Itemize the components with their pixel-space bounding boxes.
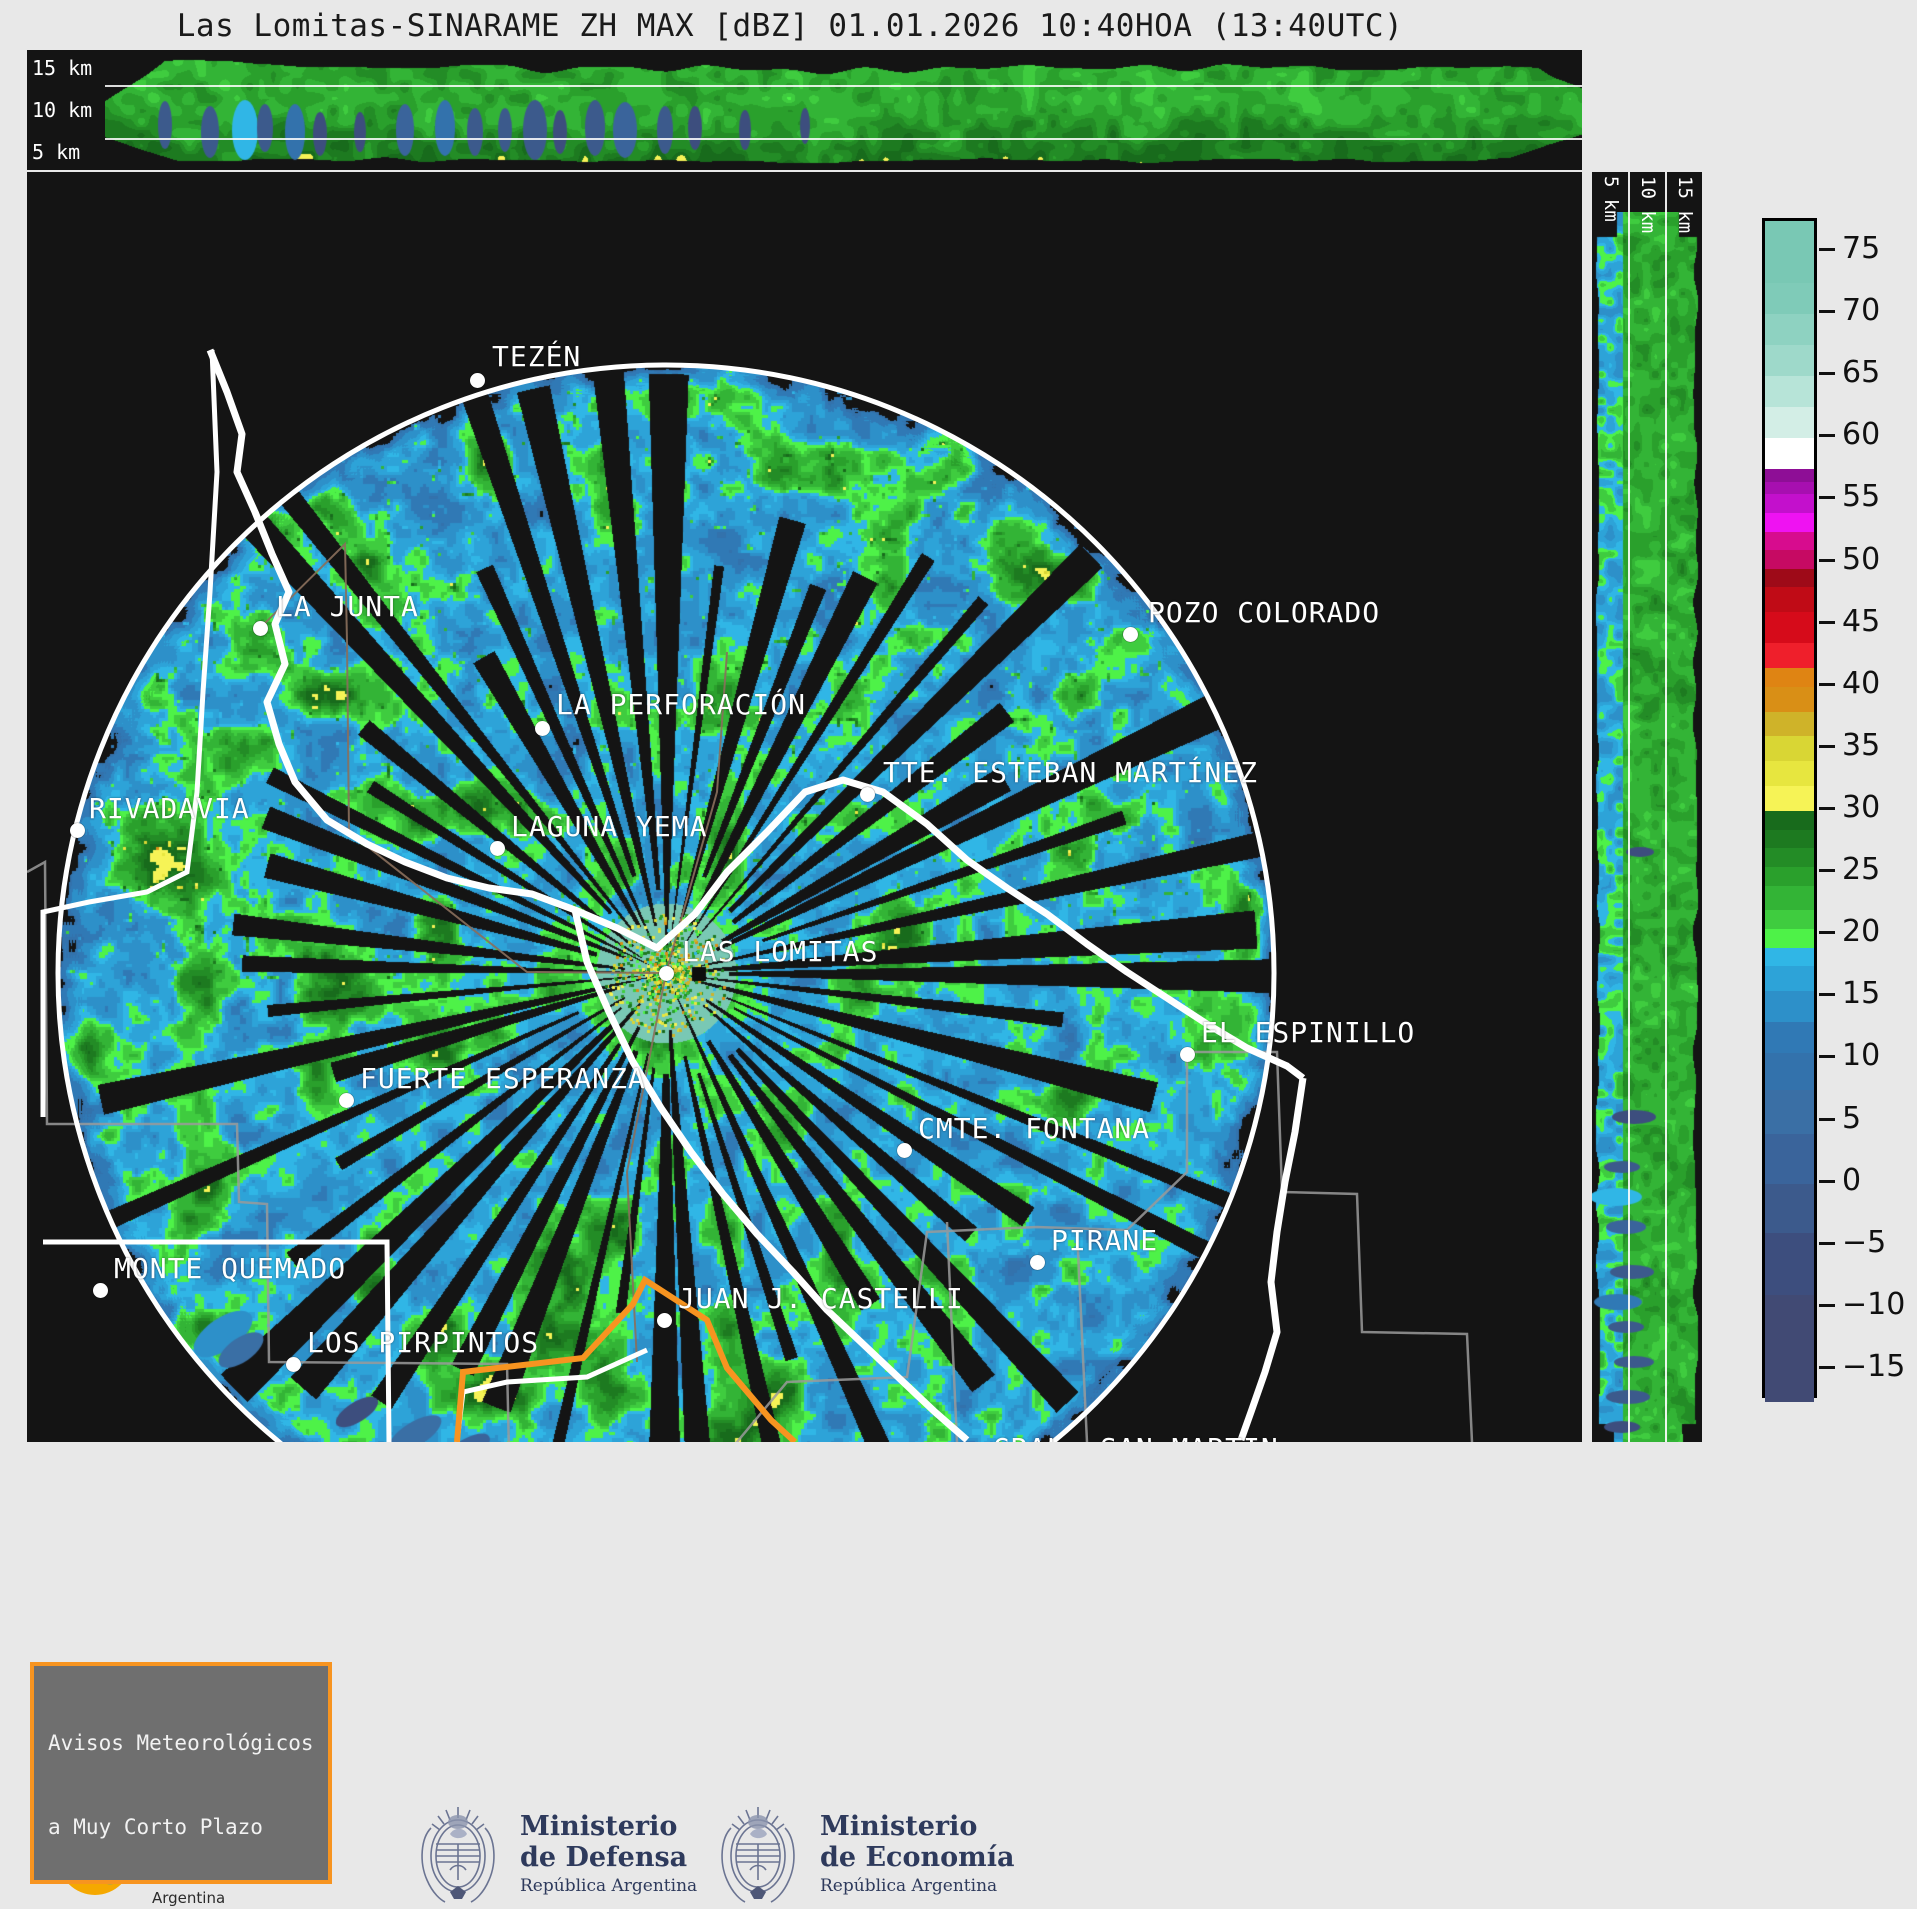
colorbar-segment xyxy=(1765,830,1814,849)
colorbar-segment xyxy=(1765,966,1814,991)
defensa-logo-subtitle: República Argentina xyxy=(520,1876,697,1896)
city-dot-icon xyxy=(659,966,674,981)
colorbar-segment xyxy=(1765,550,1814,569)
colorbar-tick-label: 35 xyxy=(1842,731,1880,761)
colorbar-segment xyxy=(1765,587,1814,612)
colorbar-tick xyxy=(1819,993,1835,996)
colorbar-segment xyxy=(1765,482,1814,495)
colorbar-segment xyxy=(1765,494,1814,513)
colorbar-tick-label: 65 xyxy=(1842,358,1880,388)
colorbar-tick xyxy=(1819,807,1835,810)
city-label: FUERTE ESPERANZA xyxy=(360,1062,646,1095)
colorbar-segment xyxy=(1765,221,1814,253)
city-dot-icon xyxy=(657,1313,672,1328)
colorbar-tick-label: 50 xyxy=(1842,545,1880,575)
colorbar-tick-label: −10 xyxy=(1842,1290,1905,1320)
colorbar-tick-label: 60 xyxy=(1842,420,1880,450)
status-badge-line1: Avisos Meteorológicos xyxy=(48,1730,314,1758)
top-gridline-10km xyxy=(105,85,1582,87)
colorbar-segment xyxy=(1765,687,1814,712)
economia-logo-title: Ministerio de Economía xyxy=(820,1812,1014,1872)
top-axis-label-15km: 15 km xyxy=(32,56,92,80)
city-dot-icon xyxy=(93,1283,108,1298)
colorbar-segment xyxy=(1765,1090,1814,1134)
colorbar-tick-label: 15 xyxy=(1842,979,1880,1009)
colorbar-segment xyxy=(1765,668,1814,687)
colorbar-segment xyxy=(1765,1022,1814,1054)
colorbar-segment xyxy=(1765,345,1814,377)
top-cross-section-echo xyxy=(105,50,1582,170)
colorbar-segment xyxy=(1765,761,1814,786)
colorbar-tick-label: 30 xyxy=(1842,793,1880,823)
colorbar-tick xyxy=(1819,1180,1835,1183)
colorbar-segment xyxy=(1765,252,1814,284)
colorbar-tick xyxy=(1819,248,1835,251)
colorbar-segment xyxy=(1765,643,1814,668)
colorbar-tick-label: 45 xyxy=(1842,607,1880,637)
colorbar-segment xyxy=(1765,314,1814,346)
colorbar-tick xyxy=(1819,559,1835,562)
colorbar-tick xyxy=(1819,1366,1835,1369)
right-gridline-b xyxy=(1665,172,1667,1442)
city-dot-icon xyxy=(470,373,485,388)
right-axis-label-10km: 10 km xyxy=(1637,176,1659,233)
city-label: EL ESPINILLO xyxy=(1201,1016,1415,1049)
colorbar-tick xyxy=(1819,931,1835,934)
colorbar-tick-label: 75 xyxy=(1842,234,1880,264)
colorbar-segment xyxy=(1765,1233,1814,1296)
city-label: PIRANE xyxy=(1051,1224,1158,1257)
colorbar-tick-label: 20 xyxy=(1842,917,1880,947)
colorbar-tick-label: 55 xyxy=(1842,482,1880,512)
colorbar-tick xyxy=(1819,1304,1835,1307)
right-axis-label-15km: 15 km xyxy=(1674,176,1696,233)
colorbar-tick-label: 70 xyxy=(1842,296,1880,326)
colorbar-tick xyxy=(1819,621,1835,624)
status-badge-line2: a Muy Corto Plazo xyxy=(48,1814,314,1842)
colorbar-segment xyxy=(1765,929,1814,948)
colorbar-tick xyxy=(1819,683,1835,686)
colorbar-tick xyxy=(1819,310,1835,313)
colorbar-segment xyxy=(1765,867,1814,886)
city-dot-icon xyxy=(1180,1047,1195,1062)
colorbar-segment xyxy=(1765,376,1814,408)
colorbar-tick xyxy=(1819,745,1835,748)
colorbar-segment xyxy=(1765,848,1814,867)
city-label: JUAN J. CASTELLI xyxy=(678,1282,964,1315)
top-gridline-5km xyxy=(105,138,1582,140)
city-dot-icon xyxy=(860,787,875,802)
colorbar-tick xyxy=(1819,1242,1835,1245)
colorbar-tick xyxy=(1819,1118,1835,1121)
argentina-coat-of-arms-icon xyxy=(410,1804,506,1904)
city-label: GRAL. SAN MARTIN xyxy=(993,1432,1279,1442)
smn-logo-subtitle: Argentina xyxy=(152,1889,329,1907)
colorbar-segment xyxy=(1765,712,1814,737)
colorbar-segment xyxy=(1765,1053,1814,1091)
status-badge[interactable]: Avisos Meteorológicos a Muy Corto Plazo xyxy=(30,1662,332,1884)
colorbar-tick-label: 25 xyxy=(1842,855,1880,885)
colorbar-segment xyxy=(1765,438,1814,470)
colorbar-segment xyxy=(1765,469,1814,482)
river-pilcomayo xyxy=(210,350,1303,1440)
colorbar-tick xyxy=(1819,496,1835,499)
city-dot-icon xyxy=(253,621,268,636)
colorbar-segment xyxy=(1765,1184,1814,1234)
city-label: MONTE QUEMADO xyxy=(114,1252,346,1285)
right-cross-section-panel: 5 km 10 km 15 km xyxy=(1592,172,1702,1442)
right-cross-section-echo xyxy=(1592,212,1702,1442)
economia-logo-subtitle: República Argentina xyxy=(820,1876,1014,1896)
city-label: LAS LOMITAS xyxy=(682,935,878,968)
colorbar-segment xyxy=(1765,910,1814,929)
city-dot-icon xyxy=(1123,627,1138,642)
city-label: TTE. ESTEBAN MARTÍNEZ xyxy=(883,756,1258,789)
argentina-coat-of-arms-icon-2 xyxy=(710,1804,806,1904)
city-label: TEZÉN xyxy=(492,340,581,373)
colorbar-segment xyxy=(1765,811,1814,830)
city-label: LA JUNTA xyxy=(276,590,419,623)
colorbar-tick xyxy=(1819,372,1835,375)
colorbar-segment xyxy=(1765,1295,1814,1401)
colorbar-tick-label: 5 xyxy=(1842,1104,1861,1134)
city-label: RIVADAVIA xyxy=(89,792,250,825)
page-title: Las Lomitas-SINARAME ZH MAX [dBZ] 01.01.… xyxy=(0,8,1580,44)
roads xyxy=(260,544,727,1362)
top-axis-label-10km: 10 km xyxy=(32,98,92,122)
city-dot-icon xyxy=(339,1093,354,1108)
colorbar-gradient xyxy=(1762,218,1817,1398)
colorbar-tick-label: −5 xyxy=(1842,1228,1886,1258)
city-label: LAGUNA YEMA xyxy=(511,810,707,843)
top-axis-label-5km: 5 km xyxy=(32,140,80,164)
logo-ministerio-de-defensa: Ministerio de Defensa República Argentin… xyxy=(410,1804,697,1904)
top-cross-section-panel: 15 km 10 km 5 km xyxy=(27,50,1582,170)
colorbar-segment xyxy=(1765,1134,1814,1184)
right-axis-label-5km: 5 km xyxy=(1600,176,1622,222)
city-label: POZO COLORADO xyxy=(1148,596,1380,629)
colorbar-segment xyxy=(1765,948,1814,967)
colorbar-tick-label: −15 xyxy=(1842,1352,1905,1382)
colorbar-segment xyxy=(1765,886,1814,911)
colorbar-tick xyxy=(1819,869,1835,872)
colorbar-segment xyxy=(1765,532,1814,551)
colorbar-tick-label: 10 xyxy=(1842,1041,1880,1071)
right-gridline-a xyxy=(1628,172,1630,1442)
colorbar-tick-label: 40 xyxy=(1842,669,1880,699)
colorbar-segment xyxy=(1765,283,1814,315)
colorbar-segment xyxy=(1765,612,1814,644)
city-dot-icon xyxy=(490,841,505,856)
colorbar-segment xyxy=(1765,736,1814,761)
defensa-logo-title: Ministerio de Defensa xyxy=(520,1812,697,1872)
city-label: CMTE. FONTANA xyxy=(918,1112,1150,1145)
colorbar-segment xyxy=(1765,513,1814,532)
city-label: LOS PIRPINTOS xyxy=(307,1326,539,1359)
colorbar: 757065605550454035302520151050−5−10−15 xyxy=(1762,218,1912,1398)
city-label: LA PERFORACIÓN xyxy=(556,688,806,721)
colorbar-segment xyxy=(1765,991,1814,1023)
logo-ministerio-de-economia: Ministerio de Economía República Argenti… xyxy=(710,1804,1014,1904)
city-dot-icon xyxy=(897,1143,912,1158)
colorbar-segment xyxy=(1765,786,1814,811)
colorbar-tick xyxy=(1819,1055,1835,1058)
colorbar-tick xyxy=(1819,434,1835,437)
colorbar-segment xyxy=(1765,569,1814,588)
city-dot-icon xyxy=(1030,1255,1045,1270)
city-dot-icon xyxy=(286,1357,301,1372)
city-dot-icon xyxy=(70,823,85,838)
radar-plan-view-panel[interactable]: TEZÉNLA JUNTAPOZO COLORADOLA PERFORACIÓN… xyxy=(27,172,1582,1442)
colorbar-tick-label: 0 xyxy=(1842,1166,1861,1196)
city-dot-icon xyxy=(535,721,550,736)
colorbar-segment xyxy=(1765,407,1814,439)
